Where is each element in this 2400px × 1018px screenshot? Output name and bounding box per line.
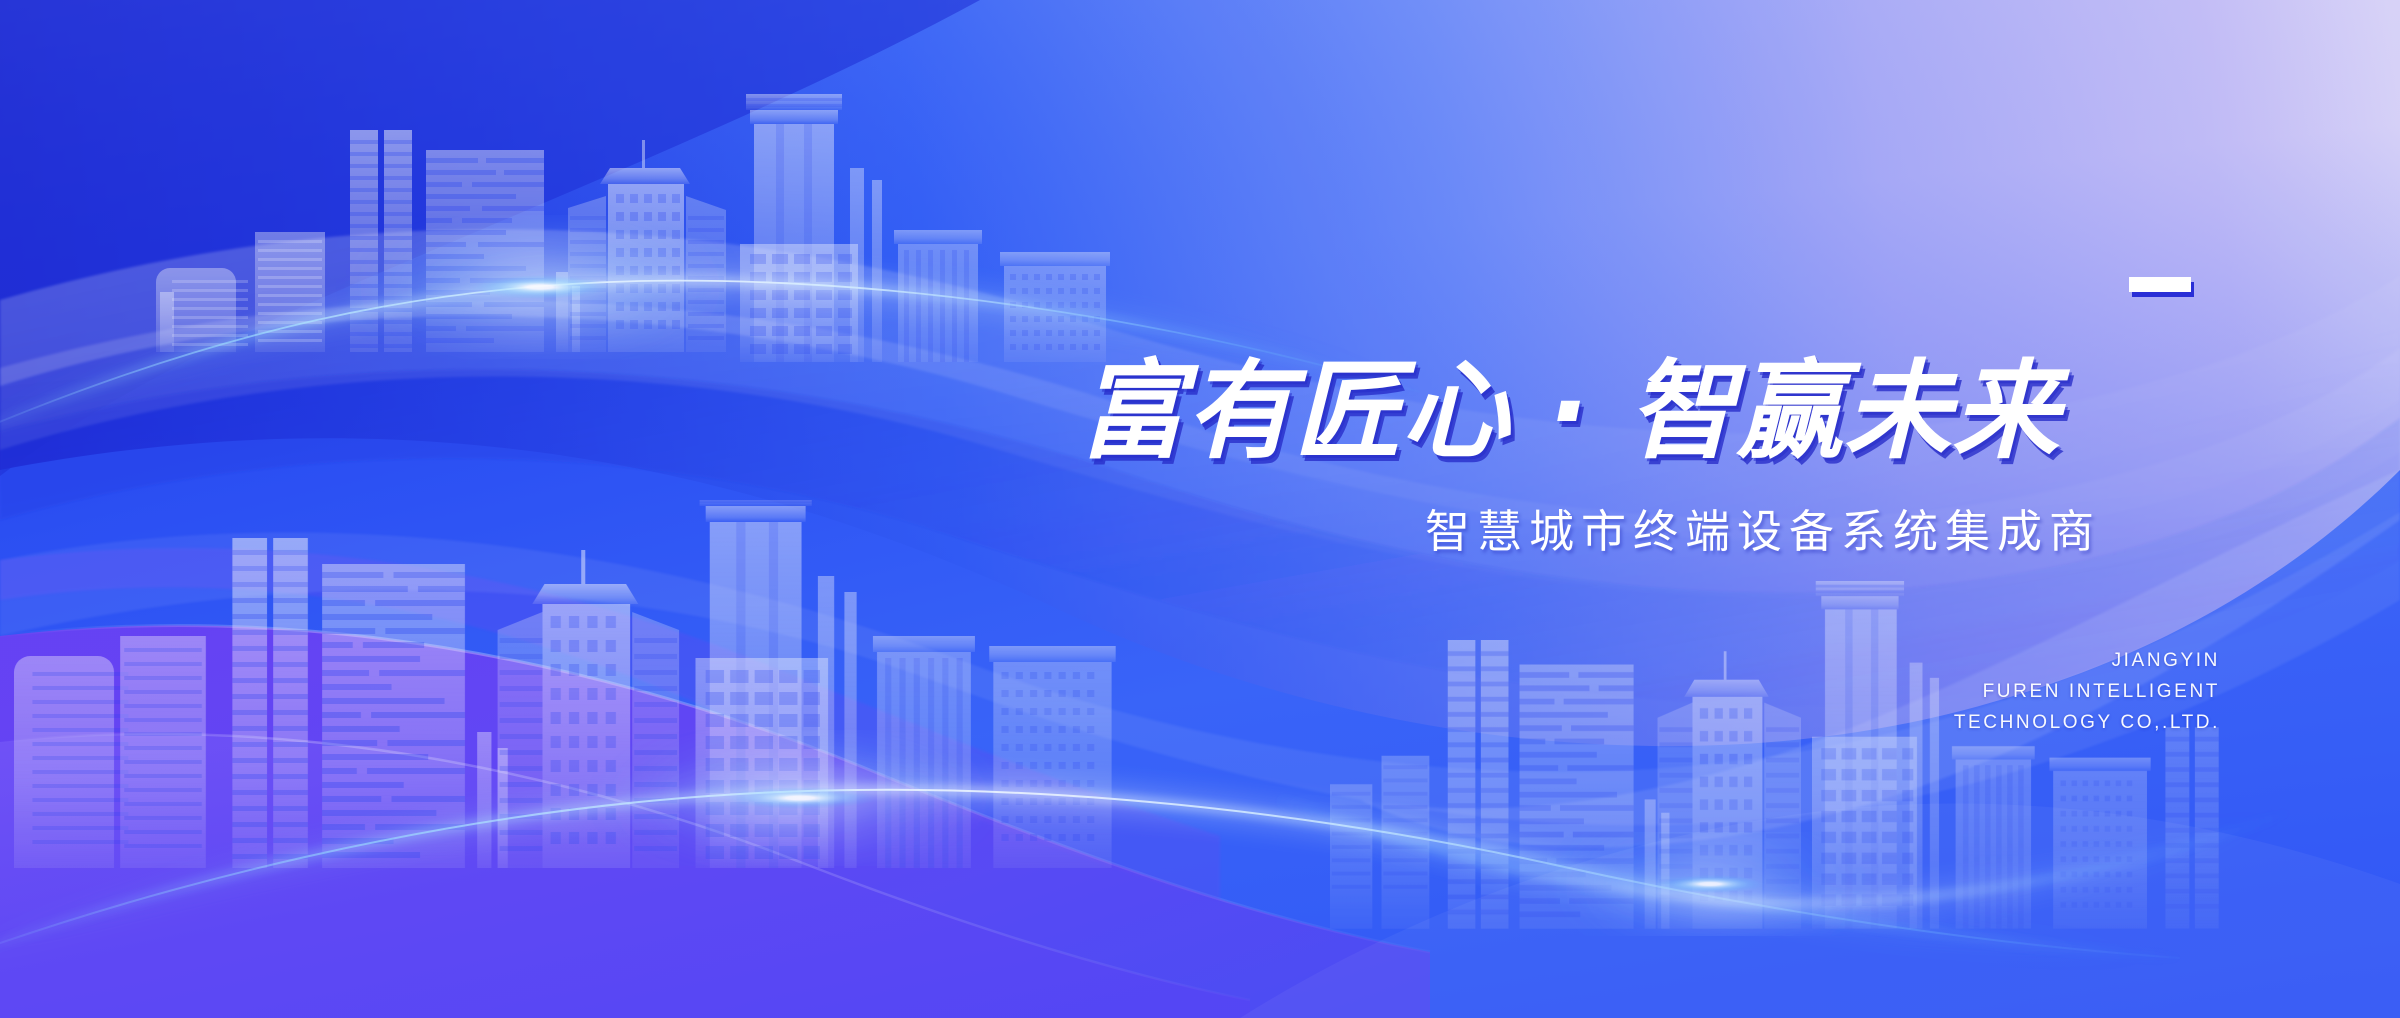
company-line-2: FUREN INTELLIGENT — [1800, 677, 2220, 708]
banner-canvas: 富有匠心 · 智赢未来 智慧城市终端设备系统集成商 JIANGYIN FUREN… — [0, 0, 2400, 1018]
accent-dash-icon — [2129, 277, 2191, 292]
page-title: 富有匠心 · 智赢未来 — [1078, 356, 2328, 469]
company-line-3: TECHNOLOGY CO,.LTD. — [1800, 708, 2220, 739]
subtitle: 智慧城市终端设备系统集成商 — [1425, 505, 2101, 559]
company-line-1: JIANGYIN — [1800, 646, 2220, 677]
company-name: JIANGYIN FUREN INTELLIGENT TECHNOLOGY CO… — [1800, 646, 2220, 738]
